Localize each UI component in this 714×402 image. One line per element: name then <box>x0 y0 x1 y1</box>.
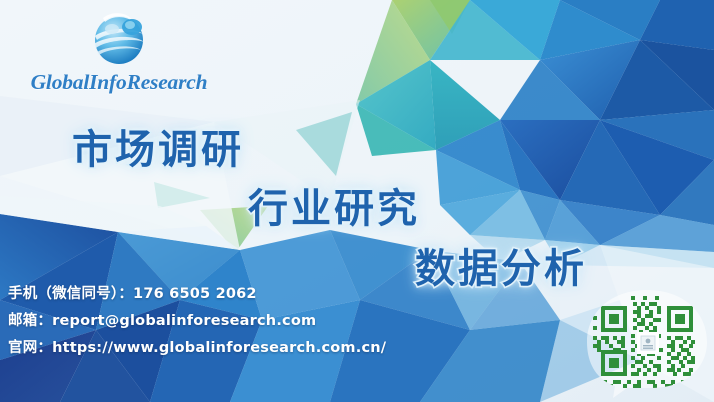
marketing-banner: GlobalInfoResearch 市场调研 行业研究 数据分析 手机（微信同… <box>0 0 714 402</box>
brand-logo: GlobalInfoResearch <box>14 6 224 95</box>
contact-email-line: 邮箱：report@globalinforesearch.com <box>8 308 488 335</box>
wechat-qr-code-icon[interactable] <box>583 288 711 400</box>
brand-name: GlobalInfoResearch <box>14 70 224 95</box>
contact-website-line[interactable]: 官网：https://www.globalinforesearch.com.cn… <box>8 335 488 362</box>
globe-swirl-icon <box>83 6 155 72</box>
headline-industry-research: 行业研究 <box>248 176 420 234</box>
contact-phone-line: 手机（微信同号）：176 6505 2062 <box>8 281 488 308</box>
contact-block: 手机（微信同号）：176 6505 2062 邮箱：report@globali… <box>8 281 488 362</box>
headline-market-research: 市场调研 <box>72 117 244 175</box>
